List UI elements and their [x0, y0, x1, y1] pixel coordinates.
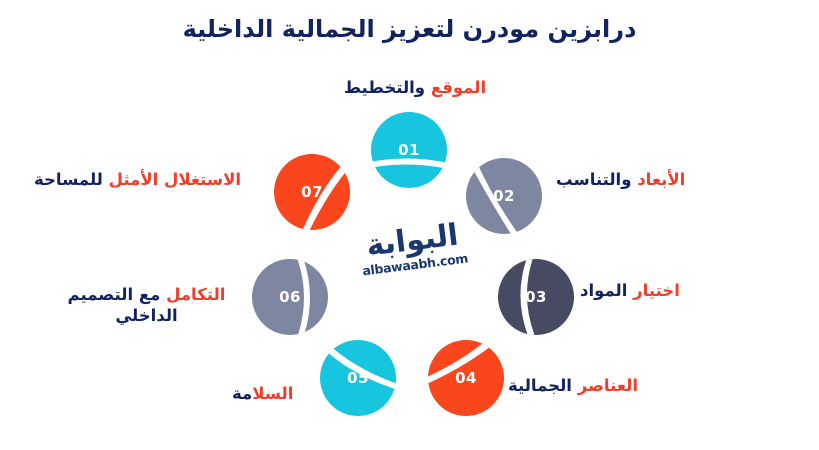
step-label-03: اختيار المواد [580, 281, 680, 302]
step-circle-01-shape [371, 112, 447, 188]
step-circle-03-shape [498, 259, 574, 335]
step-label-06-highlight: التكامل [166, 285, 225, 304]
step-circle-07[interactable]: 07 [274, 154, 350, 230]
infographic-canvas: درابزين مودرن لتعزيز الجمالية الداخلية ا… [0, 0, 819, 450]
step-label-01-rest: والتخطيط [344, 78, 425, 97]
step-label-05-highlight: السلا [252, 384, 293, 403]
page-title: درابزين مودرن لتعزيز الجمالية الداخلية [0, 14, 819, 44]
step-label-07-highlight: الاستغلال الأمثل [109, 170, 241, 189]
step-label-03-highlight: اختيار [633, 281, 680, 300]
step-label-05-rest: مة [232, 384, 252, 403]
step-label-03-rest: المواد [580, 281, 627, 300]
step-label-07-rest: للمساحة [34, 170, 103, 189]
watermark-domain: albawaabh.com [345, 248, 486, 280]
step-label-02-highlight: الأبعاد [637, 170, 685, 189]
step-label-01: الموقع والتخطيط [330, 78, 500, 99]
step-label-04-rest: الجمالية [508, 376, 572, 395]
step-label-06: التكامل مع التصميم الداخلي [54, 285, 239, 326]
step-circle-04-shape [428, 340, 504, 416]
step-circle-04[interactable]: 04 [428, 340, 504, 416]
step-label-06-rest: مع التصميم الداخلي [68, 285, 178, 325]
step-label-07: الاستغلال الأمثل للمساحة [34, 170, 241, 191]
step-label-05: السلامة [232, 384, 293, 405]
step-circle-02[interactable]: 02 [466, 158, 542, 234]
step-label-01-highlight: الموقع [431, 78, 486, 97]
step-circle-06[interactable]: 06 [252, 259, 328, 335]
step-circle-03[interactable]: 03 [498, 259, 574, 335]
step-circle-02-shape [466, 158, 542, 234]
step-circle-01[interactable]: 01 [371, 112, 447, 188]
step-circle-07-shape [274, 154, 350, 230]
step-label-02-rest: والتناسب [556, 170, 631, 189]
step-circle-06-shape [252, 259, 328, 335]
step-label-02: الأبعاد والتناسب [556, 170, 685, 191]
step-label-04-highlight: العناصر [578, 376, 638, 395]
step-circle-05[interactable]: 05 [320, 340, 396, 416]
step-label-04: العناصر الجمالية [508, 376, 638, 397]
watermark-brand: البوابة [341, 218, 484, 265]
step-circle-05-shape [320, 340, 396, 416]
